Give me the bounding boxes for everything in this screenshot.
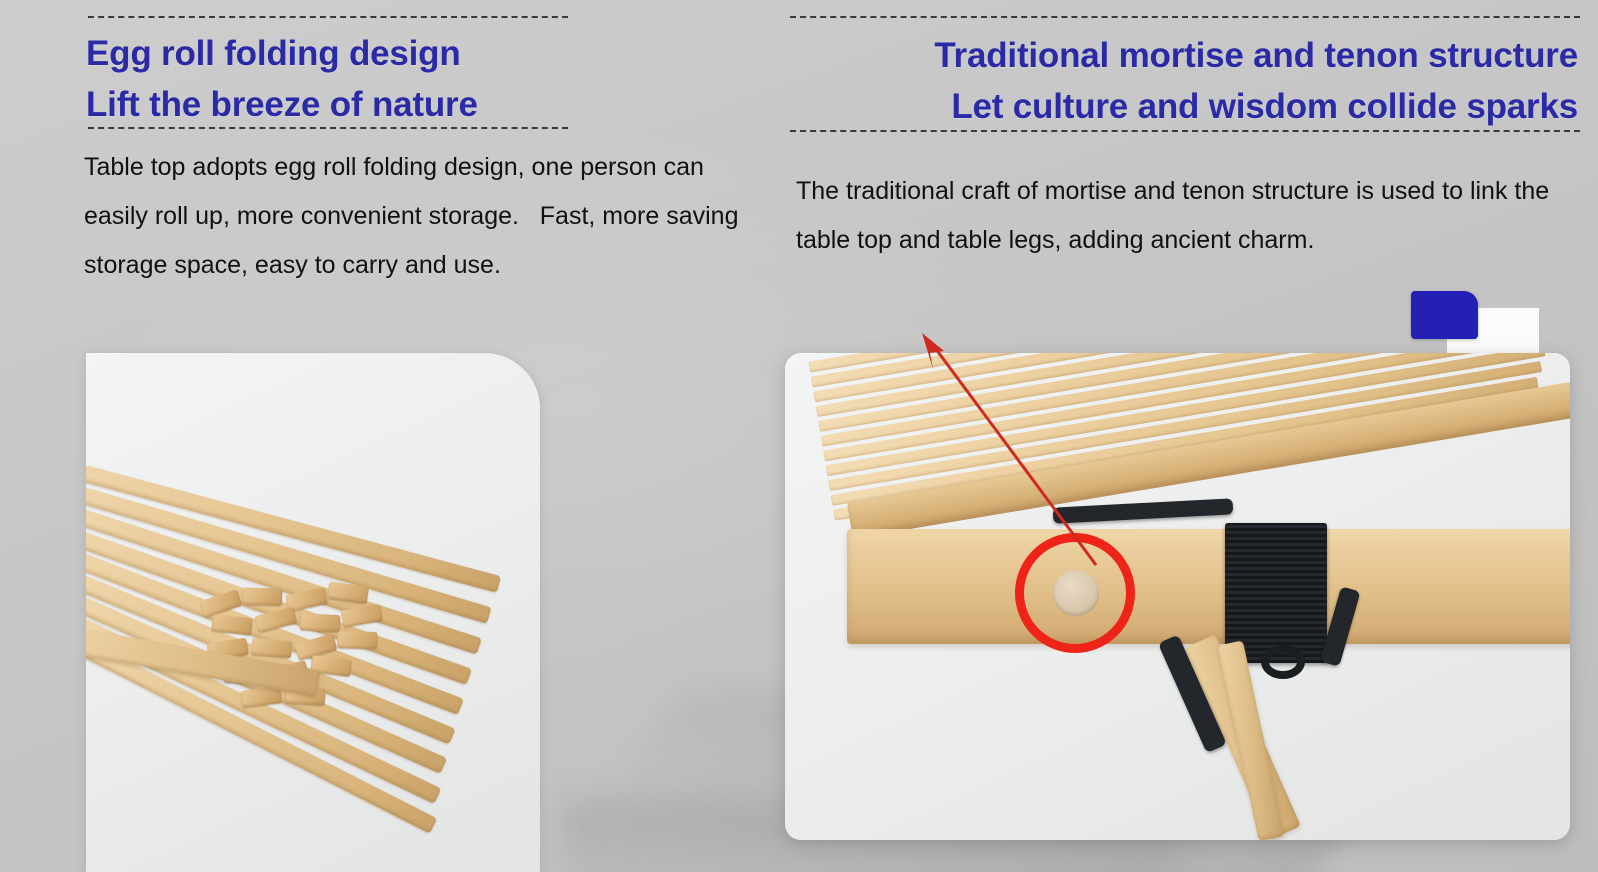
support-rail bbox=[847, 529, 1570, 644]
right-heading-line1: Traditional mortise and tenon structure bbox=[934, 36, 1578, 75]
right-product-image bbox=[785, 353, 1570, 840]
blue-accent-badge bbox=[1411, 291, 1478, 339]
left-divider-top bbox=[88, 16, 568, 18]
right-divider-top bbox=[790, 16, 1580, 18]
annotation-circle bbox=[1015, 533, 1135, 653]
right-heading-line2: Let culture and wisdom collide sparks bbox=[788, 82, 1578, 133]
left-divider-bottom bbox=[88, 127, 568, 129]
right-body-text: The traditional craft of mortise and ten… bbox=[796, 167, 1552, 265]
left-heading-line2: Lift the breeze of nature bbox=[86, 80, 606, 131]
left-heading: Egg roll folding design Lift the breeze … bbox=[86, 29, 606, 131]
right-divider-bottom bbox=[790, 130, 1580, 132]
strap-d-ring bbox=[1261, 645, 1305, 679]
left-body-text: Table top adopts egg roll folding design… bbox=[84, 143, 744, 289]
slat-bundle bbox=[194, 577, 423, 722]
slide-canvas: Egg roll folding design Lift the breeze … bbox=[0, 0, 1598, 872]
left-heading-line1: Egg roll folding design bbox=[86, 34, 461, 73]
left-product-image bbox=[86, 353, 540, 872]
right-heading: Traditional mortise and tenon structure … bbox=[788, 31, 1578, 133]
